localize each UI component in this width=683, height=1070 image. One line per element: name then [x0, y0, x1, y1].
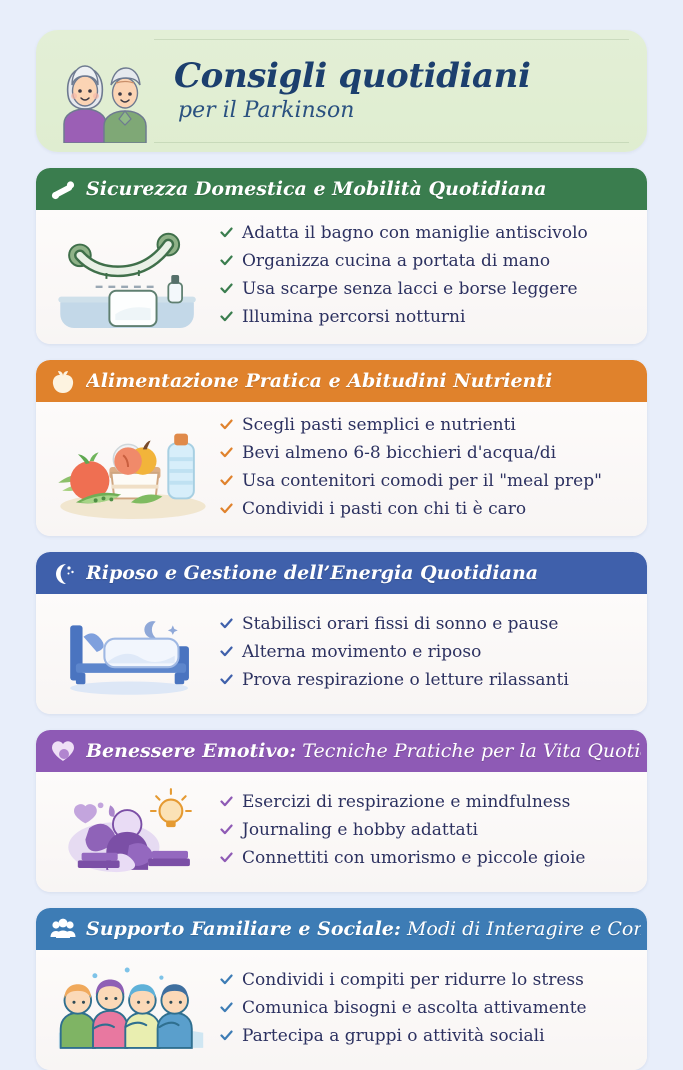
tips-list-emotional-wellbeing: Esercizi di respirazione e mindfulness J… — [216, 792, 633, 868]
moon-icon — [50, 560, 76, 586]
list-item: Partecipa a gruppi o attività sociali — [220, 1026, 633, 1046]
tips-list-rest-energy: Stabilisci orari fissi di sonno e pause … — [216, 614, 633, 690]
tip-text: Condividi i compiti per ridurre lo stres… — [242, 970, 584, 990]
check-icon — [220, 973, 233, 986]
list-item: Usa scarpe senza lacci e borse leggere — [220, 279, 633, 299]
section-title-rest-energy: Riposo e Gestione dell’Energia Quotidian… — [86, 562, 538, 584]
header-card: Consigli quotidiani per il Parkinson — [36, 30, 647, 152]
bed-night-illustration — [46, 604, 216, 700]
check-icon — [220, 474, 233, 487]
heart-icon — [50, 738, 76, 764]
list-item: Usa contenitori comodi per il "meal prep… — [220, 471, 633, 491]
section-header-nutrition: Alimentazione Pratica e Abitudini Nutrie… — [36, 360, 647, 402]
check-icon — [220, 502, 233, 515]
check-icon — [220, 282, 233, 295]
section-body-emotional-wellbeing: Esercizi di respirazione e mindfulness J… — [36, 772, 647, 892]
list-item: Stabilisci orari fissi di sonno e pause — [220, 614, 633, 634]
tip-text: Prova respirazione o letture rilassanti — [242, 670, 569, 690]
elderly-couple-illustration — [54, 39, 160, 143]
tips-list-nutrition: Scegli pasti semplici e nutrienti Bevi a… — [216, 415, 633, 519]
check-icon — [220, 226, 233, 239]
bathroom-grab-bar-illustration — [46, 220, 216, 330]
tip-text: Stabilisci orari fissi di sonno e pause — [242, 614, 558, 634]
check-icon — [220, 795, 233, 808]
section-title-family-social-support: Supporto Familiare e Sociale: Modi di In… — [86, 918, 641, 940]
section-header-home-safety: Sicurezza Domestica e Mobilità Quotidian… — [36, 168, 647, 210]
list-item: Bevi almeno 6-8 bicchieri d'acqua/di — [220, 443, 633, 463]
list-item: Esercizi di respirazione e mindfulness — [220, 792, 633, 812]
check-icon — [220, 310, 233, 323]
list-item: Condividi i compiti per ridurre lo stres… — [220, 970, 633, 990]
check-icon — [220, 673, 233, 686]
list-item: Alterna movimento e riposo — [220, 642, 633, 662]
fruits-vegetables-water-illustration — [46, 412, 216, 522]
tip-text: Condividi i pasti con chi ti è caro — [242, 499, 526, 519]
section-body-nutrition: Scegli pasti semplici e nutrienti Bevi a… — [36, 402, 647, 536]
tip-text: Esercizi di respirazione e mindfulness — [242, 792, 570, 812]
check-icon — [220, 823, 233, 836]
section-body-home-safety: Adatta il bagno con maniglie antiscivolo… — [36, 210, 647, 344]
tip-text: Comunica bisogni e ascolta attivamente — [242, 998, 587, 1018]
list-item: Prova respirazione o letture rilassanti — [220, 670, 633, 690]
list-item: Scegli pasti semplici e nutrienti — [220, 415, 633, 435]
tips-list-family-social-support: Condividi i compiti per ridurre lo stres… — [216, 970, 633, 1046]
list-item: Organizza cucina a portata di mano — [220, 251, 633, 271]
check-icon — [220, 254, 233, 267]
check-icon — [220, 446, 233, 459]
list-item: Condividi i pasti con chi ti è caro — [220, 499, 633, 519]
tip-text: Bevi almeno 6-8 bicchieri d'acqua/di — [242, 443, 556, 463]
grab-bar-icon — [50, 176, 76, 202]
section-emotional-wellbeing: Benessere Emotivo: Tecniche Pratiche per… — [36, 730, 647, 892]
apple-icon — [50, 368, 76, 394]
section-rest-energy: Riposo e Gestione dell’Energia Quotidian… — [36, 552, 647, 714]
page-title: Consigli quotidiani — [174, 59, 531, 95]
section-body-rest-energy: Stabilisci orari fissi di sonno e pause … — [36, 594, 647, 714]
section-header-family-social-support: Supporto Familiare e Sociale: Modi di In… — [36, 908, 647, 950]
list-item: Journaling e hobby adattati — [220, 820, 633, 840]
section-body-family-social-support: Condividi i compiti per ridurre lo stres… — [36, 950, 647, 1070]
tip-text: Illumina percorsi notturni — [242, 307, 465, 327]
section-title-emotional-wellbeing: Benessere Emotivo: Tecniche Pratiche per… — [86, 740, 641, 762]
page-subtitle: per il Parkinson — [174, 98, 531, 123]
list-item: Adatta il bagno con maniglie antiscivolo — [220, 223, 633, 243]
infographic-page: Consigli quotidiani per il Parkinson Sic… — [0, 30, 683, 1054]
section-header-rest-energy: Riposo e Gestione dell’Energia Quotidian… — [36, 552, 647, 594]
tip-text: Adatta il bagno con maniglie antiscivolo — [242, 223, 588, 243]
tips-list-home-safety: Adatta il bagno con maniglie antiscivolo… — [216, 223, 633, 327]
section-header-emotional-wellbeing: Benessere Emotivo: Tecniche Pratiche per… — [36, 730, 647, 772]
tip-text: Journaling e hobby adattati — [242, 820, 478, 840]
header-text-block: Consigli quotidiani per il Parkinson — [160, 59, 531, 124]
list-item: Illumina percorsi notturni — [220, 307, 633, 327]
check-icon — [220, 617, 233, 630]
section-title-home-safety: Sicurezza Domestica e Mobilità Quotidian… — [86, 178, 546, 200]
group-of-friends-illustration — [46, 960, 216, 1056]
people-group-icon — [50, 916, 76, 942]
list-item: Comunica bisogni e ascolta attivamente — [220, 998, 633, 1018]
tip-text: Organizza cucina a portata di mano — [242, 251, 550, 271]
tip-text: Usa scarpe senza lacci e borse leggere — [242, 279, 578, 299]
section-nutrition: Alimentazione Pratica e Abitudini Nutrie… — [36, 360, 647, 536]
tip-text: Scegli pasti semplici e nutrienti — [242, 415, 516, 435]
section-family-social-support: Supporto Familiare e Sociale: Modi di In… — [36, 908, 647, 1070]
list-item: Connettiti con umorismo e piccole gioie — [220, 848, 633, 868]
check-icon — [220, 1001, 233, 1014]
tip-text: Partecipa a gruppi o attività sociali — [242, 1026, 545, 1046]
check-icon — [220, 418, 233, 431]
check-icon — [220, 645, 233, 658]
tip-text: Alterna movimento e riposo — [242, 642, 481, 662]
section-title-nutrition: Alimentazione Pratica e Abitudini Nutrie… — [86, 370, 552, 392]
section-home-safety: Sicurezza Domestica e Mobilità Quotidian… — [36, 168, 647, 344]
check-icon — [220, 851, 233, 864]
check-icon — [220, 1029, 233, 1042]
tip-text: Connettiti con umorismo e piccole gioie — [242, 848, 585, 868]
tip-text: Usa contenitori comodi per il "meal prep… — [242, 471, 602, 491]
person-reading-idea-illustration — [46, 782, 216, 878]
